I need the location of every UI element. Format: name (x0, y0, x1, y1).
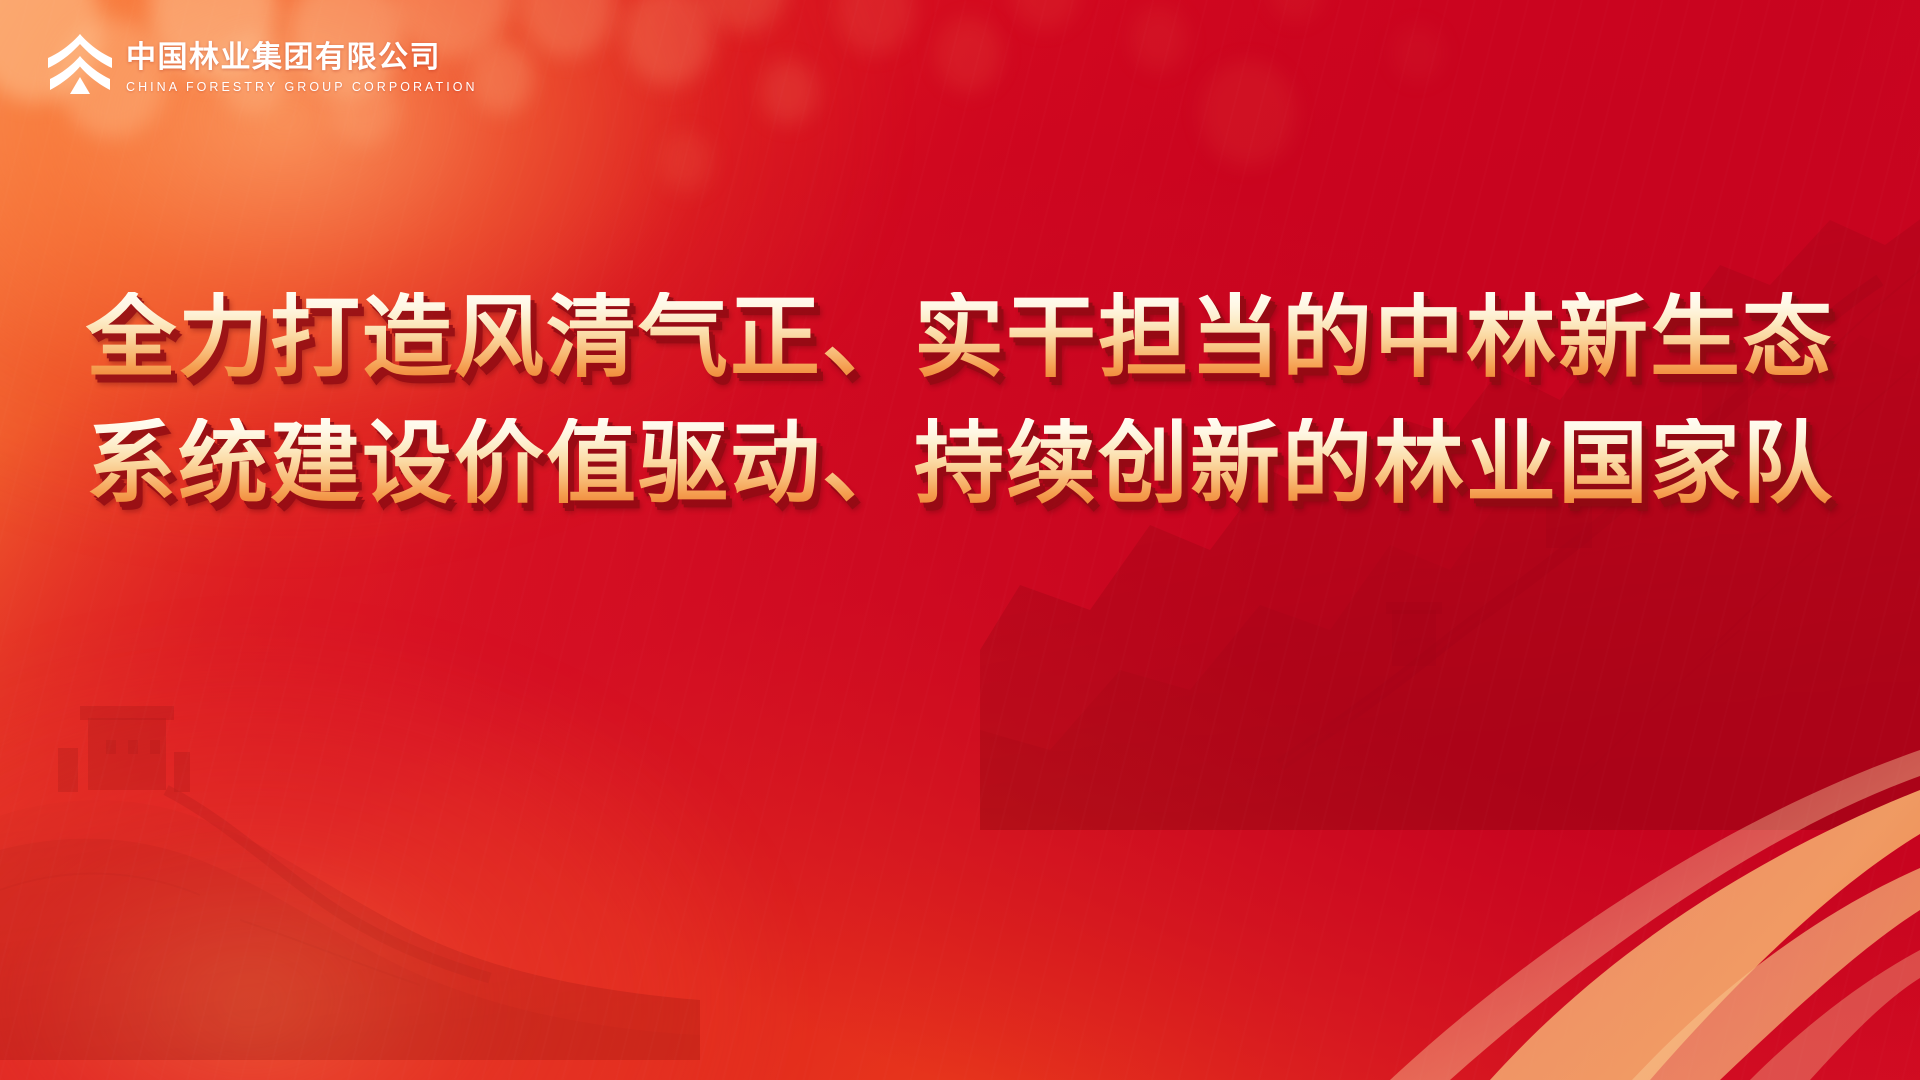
brand-name-en: CHINA FORESTRY GROUP CORPORATION (126, 81, 478, 94)
ribbon-shape (1020, 750, 1920, 1080)
brand-name-cn: 中国林业集团有限公司 (126, 43, 478, 73)
poster-banner: 中国林业集团有限公司 CHINA FORESTRY GROUP CORPORAT… (0, 0, 1920, 1080)
gold-ribbon-swoosh (1020, 750, 1920, 1080)
headline-line-2: 系统建设价值驱动、持续创新的林业国家队 系统建设价值驱动、持续创新的林业国家队 (86, 418, 1834, 510)
brand-logo[interactable]: 中国林业集团有限公司 CHINA FORESTRY GROUP CORPORAT… (46, 32, 478, 94)
headline-line-2-text: 系统建设价值驱动、持续创新的林业国家队 (86, 418, 1834, 510)
brand-logo-text: 中国林业集团有限公司 CHINA FORESTRY GROUP CORPORAT… (126, 43, 478, 95)
headline-block: 全力打造风清气正、实干担当的中林新生态 全力打造风清气正、实干担当的中林新生态 … (0, 292, 1920, 510)
china-forestry-pagoda-icon (46, 32, 114, 94)
headline-line-1-text: 全力打造风清气正、实干担当的中林新生态 (86, 292, 1834, 384)
headline-line-1: 全力打造风清气正、实干担当的中林新生态 全力打造风清气正、实干担当的中林新生态 (86, 292, 1834, 384)
